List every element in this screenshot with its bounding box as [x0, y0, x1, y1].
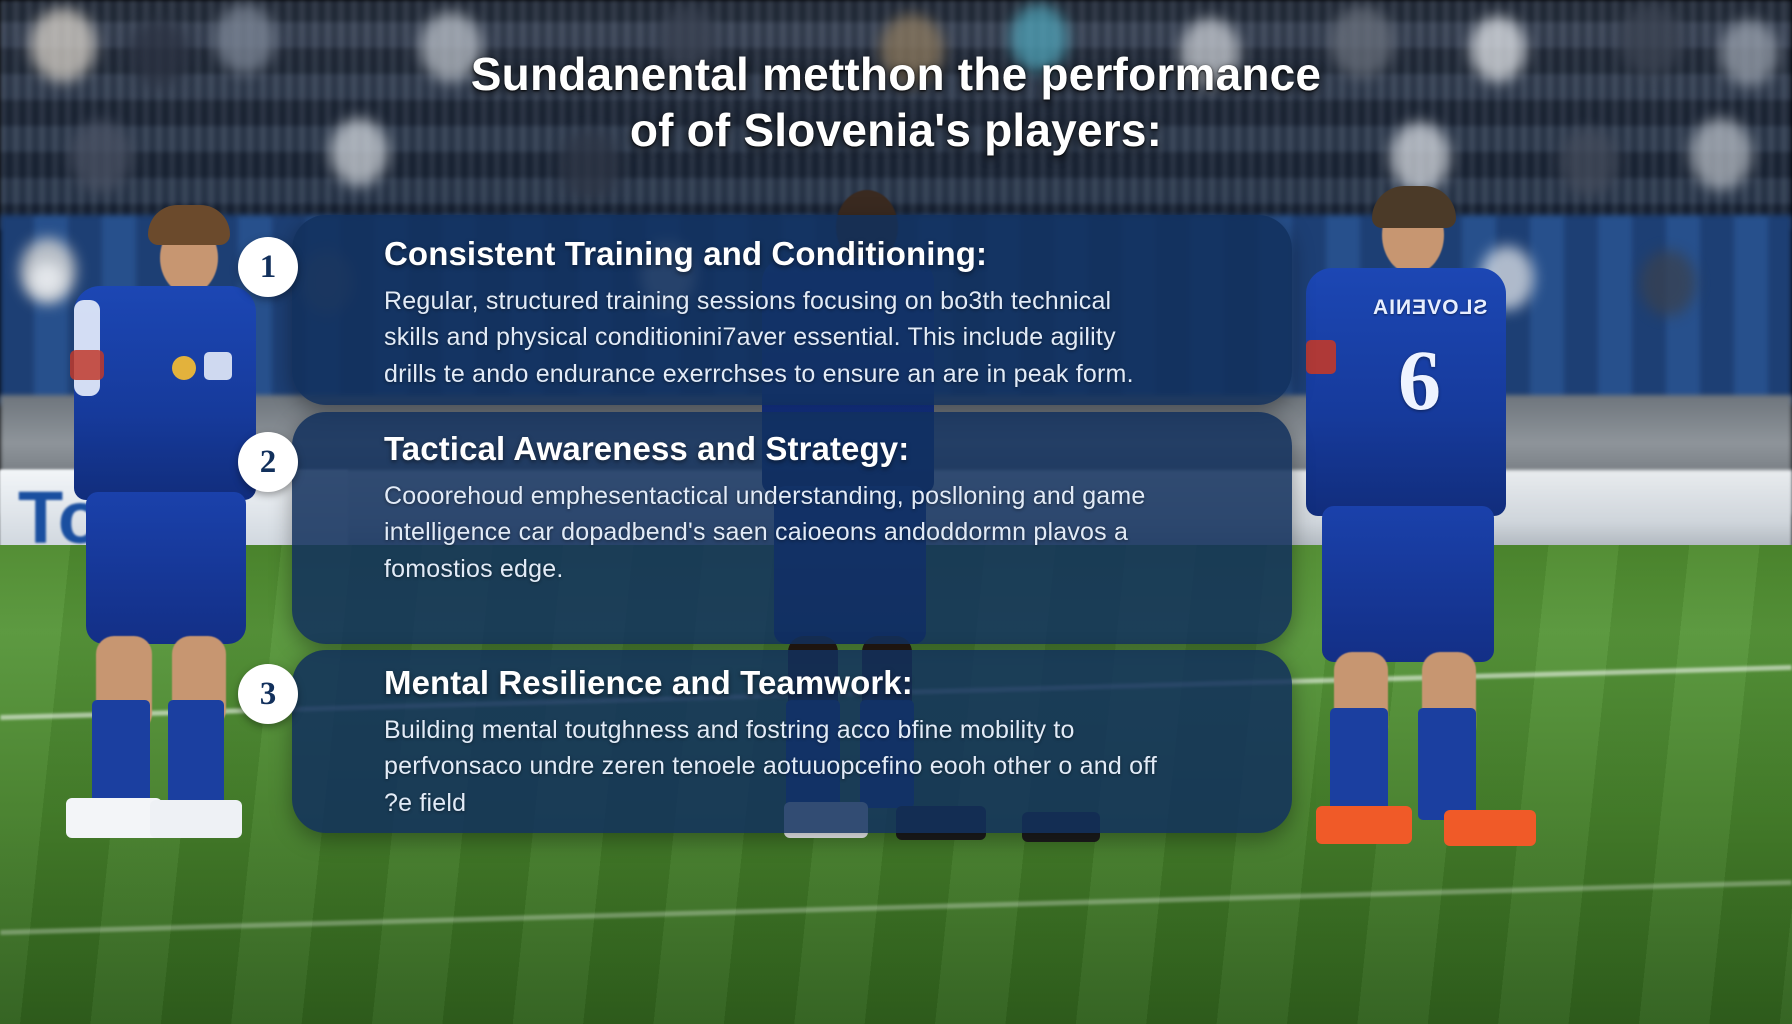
- body-line: ?e field: [384, 785, 1252, 821]
- step-number-badge: 1: [238, 237, 298, 297]
- list-item-heading: Consistent Training and Conditioning:: [384, 235, 1252, 273]
- list-item-1[interactable]: 1 Consistent Training and Conditioning: …: [292, 215, 1292, 405]
- infographic-overlay: Sundanental metthon the performance of o…: [0, 0, 1792, 1024]
- body-line: drills te ando endurance exerrchses to e…: [384, 356, 1252, 392]
- list-item-heading: Mental Resilience and Teamwork:: [384, 664, 1252, 702]
- list-item-body: Building mental toutghness and fostring …: [384, 712, 1252, 821]
- body-line: Cooorehoud emphesentactical understandin…: [384, 478, 1252, 514]
- list-item-heading: Tactical Awareness and Strategy:: [384, 430, 1252, 468]
- body-line: Regular, structured training sessions fo…: [384, 283, 1252, 319]
- body-line: skills and physical conditionini7aver es…: [384, 319, 1252, 355]
- list-item-body: Regular, structured training sessions fo…: [384, 283, 1252, 392]
- page-title-line-1: Sundanental metthon the performance: [160, 46, 1632, 102]
- body-line: perfvonsaco undre zeren tenoele aotuuopc…: [384, 748, 1252, 784]
- step-number-badge: 3: [238, 664, 298, 724]
- page-title-line-2: of of Slovenia's players:: [160, 102, 1632, 158]
- list-item-body: Cooorehoud emphesentactical understandin…: [384, 478, 1252, 587]
- step-number-badge: 2: [238, 432, 298, 492]
- list-item-2[interactable]: 2 Tactical Awareness and Strategy: Cooor…: [292, 412, 1292, 644]
- page-title: Sundanental metthon the performance of o…: [0, 46, 1792, 158]
- body-line: fomostios edge.: [384, 551, 1252, 587]
- list-item-3[interactable]: 3 Mental Resilience and Teamwork: Buildi…: [292, 650, 1292, 833]
- body-line: Building mental toutghness and fostring …: [384, 712, 1252, 748]
- body-line: intelligence car dopadbend's saen caioeo…: [384, 514, 1252, 550]
